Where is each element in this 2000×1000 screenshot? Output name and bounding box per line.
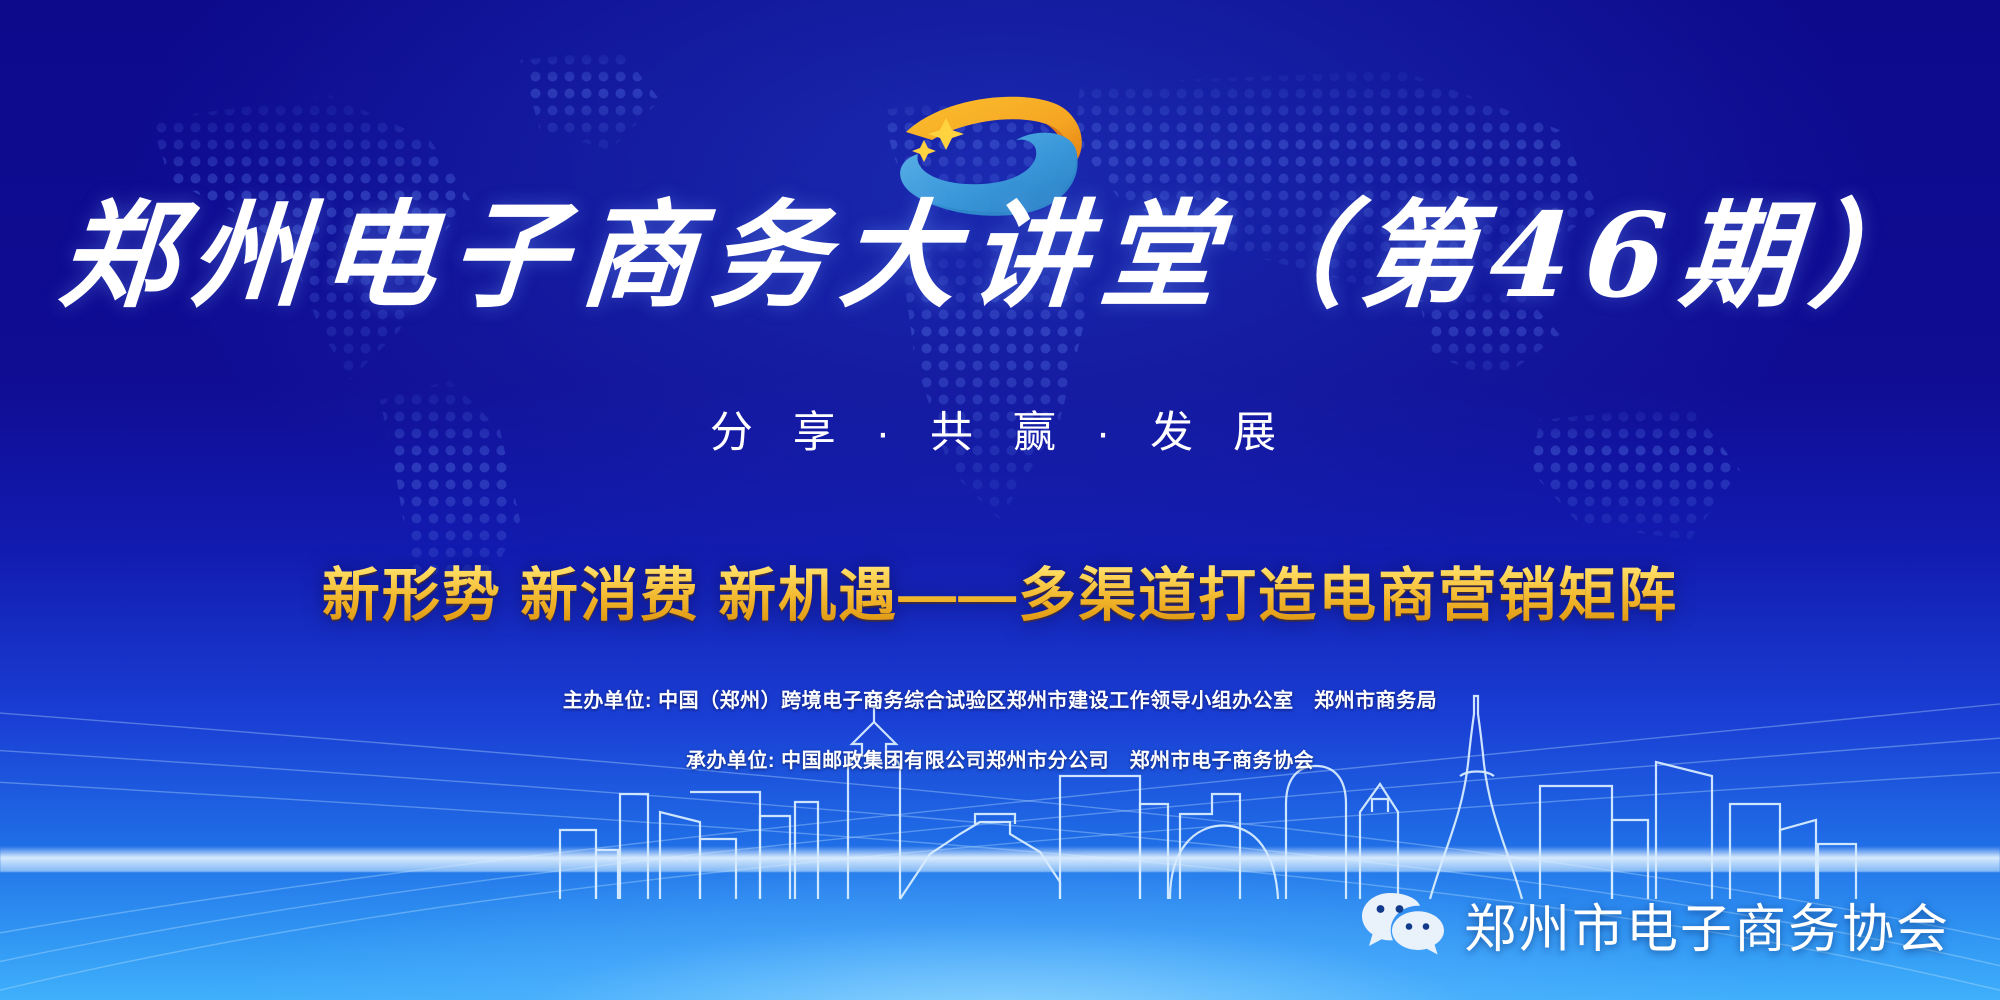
city-skyline-illustration (0, 644, 2000, 904)
poster-theme-line: 新形势 新消费 新机遇——多渠道打造电商营销矩阵 (0, 548, 2000, 632)
organizer-line: 主办单位: 中国（郑州）跨境电子商务综合试验区郑州市建设工作领导小组办公室 郑州… (0, 684, 2000, 713)
wechat-icon (1360, 889, 1446, 961)
poster-subtitle: 分 享 · 共 赢 · 发 展 (0, 398, 2000, 460)
event-poster: 郑州电子商务大讲堂（第46期） 分 享 · 共 赢 · 发 展 新形势 新消费 … (0, 0, 2000, 1000)
page-title: 郑州电子商务大讲堂（第46期） (0, 196, 2000, 318)
wechat-account-name: 郑州市电子商务协会 (1464, 887, 1950, 962)
wechat-account-block: 郑州市电子商务协会 (1360, 887, 1950, 962)
host-line: 承办单位: 中国邮政集团有限公司郑州市分公司 郑州市电子商务协会 (0, 744, 2000, 773)
